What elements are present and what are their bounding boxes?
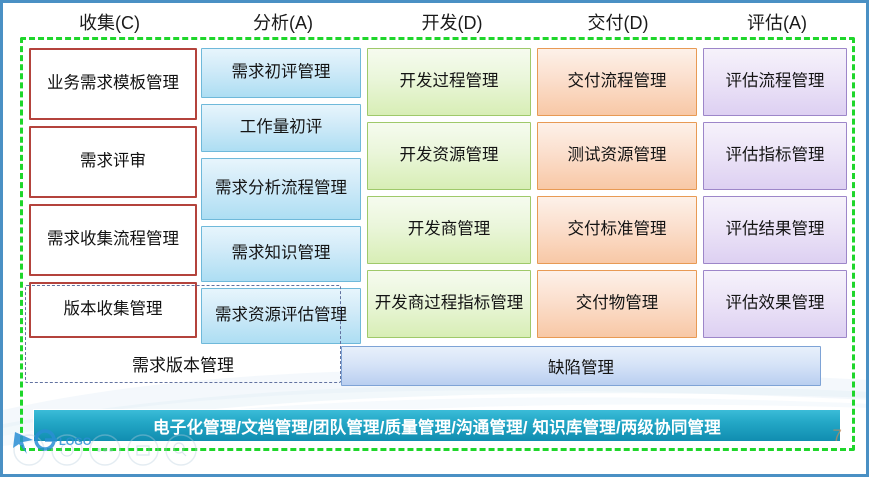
- cell-development-0[interactable]: 开发过程管理: [367, 48, 531, 116]
- cell-analysis-0[interactable]: 需求初评管理: [201, 48, 361, 98]
- column-header-collect: 收集(C): [21, 9, 198, 39]
- cell-evaluation-0[interactable]: 评估流程管理: [703, 48, 847, 116]
- cell-development-3[interactable]: 开发商过程指标管理: [367, 270, 531, 338]
- cell-delivery-2[interactable]: 交付标准管理: [537, 196, 697, 264]
- cell-analysis-3[interactable]: 需求知识管理: [201, 226, 361, 282]
- column-evaluation: 评估流程管理评估指标管理评估结果管理评估效果管理: [703, 48, 847, 344]
- cell-collect-1[interactable]: 需求评审: [29, 126, 197, 198]
- bottom-support-banner: 电子化管理/文档管理/团队管理/质量管理/沟通管理/ 知识库管理/两级协同管理: [33, 409, 841, 442]
- cell-evaluation-2[interactable]: 评估结果管理: [703, 196, 847, 264]
- cell-development-1[interactable]: 开发资源管理: [367, 122, 531, 190]
- page-number: 7: [833, 426, 842, 446]
- defect-management-box[interactable]: 缺陷管理: [341, 346, 821, 386]
- column-delivery: 交付流程管理测试资源管理交付标准管理交付物管理: [537, 48, 697, 344]
- cell-analysis-1[interactable]: 工作量初评: [201, 104, 361, 152]
- column-development: 开发过程管理开发资源管理开发商管理开发商过程指标管理: [367, 48, 531, 344]
- cell-delivery-0[interactable]: 交付流程管理: [537, 48, 697, 116]
- column-header-development: 开发(D): [368, 9, 536, 39]
- cell-analysis-2[interactable]: 需求分析流程管理: [201, 158, 361, 220]
- column-header-analysis: 分析(A): [198, 9, 368, 39]
- version-management-group-label: 需求版本管理: [25, 351, 341, 376]
- cell-delivery-1[interactable]: 测试资源管理: [537, 122, 697, 190]
- cell-development-2[interactable]: 开发商管理: [367, 196, 531, 264]
- cell-evaluation-1[interactable]: 评估指标管理: [703, 122, 847, 190]
- cell-evaluation-3[interactable]: 评估效果管理: [703, 270, 847, 338]
- cell-delivery-3[interactable]: 交付物管理: [537, 270, 697, 338]
- column-header-evaluation: 评估(A): [700, 9, 854, 39]
- column-header-delivery: 交付(D): [536, 9, 700, 39]
- cell-collect-0[interactable]: 业务需求模板管理: [29, 48, 197, 120]
- column-headers: 收集(C) 分析(A) 开发(D) 交付(D) 评估(A): [21, 9, 854, 39]
- slide-canvas: 收集(C) 分析(A) 开发(D) 交付(D) 评估(A) 业务需求模板管理需求…: [0, 0, 869, 477]
- cell-collect-2[interactable]: 需求收集流程管理: [29, 204, 197, 276]
